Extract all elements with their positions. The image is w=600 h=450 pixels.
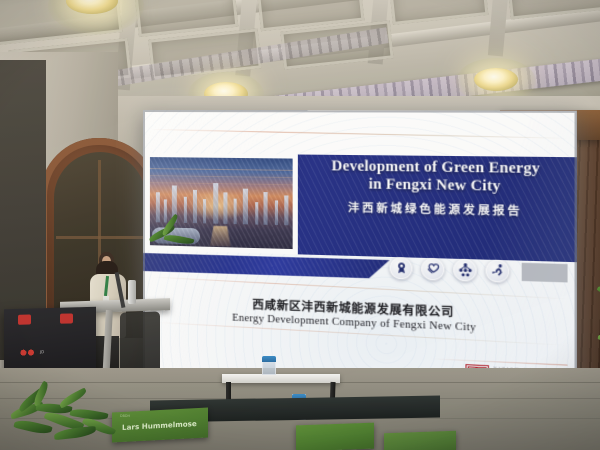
chair [120,311,160,374]
ceiling-dome-light [474,68,518,91]
led-presentation-screen: Development of Green Energy in Fengxi Ne… [143,110,577,405]
name-placard [296,423,374,450]
award-medal-icon [390,256,413,279]
side-table [222,374,340,383]
case-brand-label: JD [40,350,44,355]
network-hierarchy-icon [453,258,476,281]
slide-title-block: Development of Green Energy in Fengxi Ne… [298,158,577,220]
slide-title-en-line2: in Fengxi New City [298,175,577,198]
slide-icon-row [390,253,577,288]
glass-cap [262,356,276,362]
slide-gray-block [522,262,568,282]
case-brand-logo: JD [18,346,44,359]
hand-heart-icon [421,257,444,280]
name-placard [384,431,456,450]
running-person-icon [486,259,510,282]
brand-mark-icon [18,346,36,358]
placard-subtitle: DBDH [120,414,130,418]
thermos-bottle [128,280,136,304]
conference-room-photo: Development of Green Energy in Fengxi Ne… [0,0,600,450]
title-slide: Development of Green Energy in Fengxi Ne… [143,110,577,405]
equipment-flight-case: JD [4,307,96,377]
